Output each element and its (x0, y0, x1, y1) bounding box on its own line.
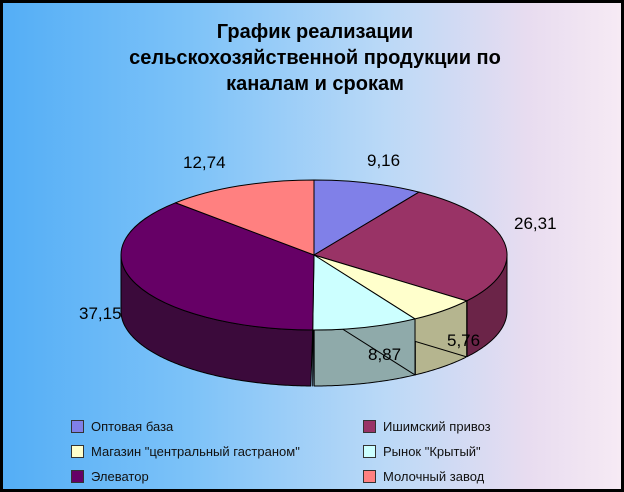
legend-label-1: Ишимский привоз (383, 419, 491, 434)
legend-item-molochnyy-zavod[interactable]: Молочный завод (363, 467, 484, 485)
slice-value-label-elevator: 37,15 (79, 304, 122, 324)
slice-value-label-magazin: 5,76 (447, 331, 480, 351)
slice-value-label-molochnyy-zavod: 12,74 (183, 153, 226, 173)
pie-top-faces (121, 180, 507, 330)
legend-swatch-icon-3 (363, 445, 376, 458)
legend-label-5: Молочный завод (383, 469, 484, 484)
slice-value-label-optovaya-baza: 9,16 (367, 151, 400, 171)
legend-label-2: Магазин "центральный гастраном" (91, 444, 300, 459)
pie-chart: 9,16 26,31 5,76 8,87 37,15 12,74 (3, 133, 621, 393)
slice-value-label-ishimskiy-privoz: 26,31 (514, 214, 557, 234)
legend-swatch-icon-1 (363, 420, 376, 433)
legend-item-rynok-krytyy[interactable]: Рынок "Крытый" (363, 442, 481, 460)
legend-label-4: Элеватор (91, 469, 149, 484)
legend-swatch-icon-2 (71, 445, 84, 458)
chart-title: График реализации сельскохозяйственной п… (63, 19, 567, 97)
legend-swatch-icon-4 (71, 470, 84, 483)
legend-item-magazin[interactable]: Магазин "центральный гастраном" (71, 442, 300, 460)
legend-swatch-icon-5 (363, 470, 376, 483)
legend-item-elevator[interactable]: Элеватор (71, 467, 149, 485)
legend-item-ishimskiy-privoz[interactable]: Ишимский привоз (363, 417, 491, 435)
slice-value-label-rynok-krytyy: 8,87 (368, 345, 401, 365)
legend-item-optovaya-baza[interactable]: Оптовая база (71, 417, 173, 435)
legend-label-0: Оптовая база (91, 419, 173, 434)
legend-swatch-icon-0 (71, 420, 84, 433)
chart-frame: График реализации сельскохозяйственной п… (0, 0, 624, 492)
chart-legend: Оптовая база Магазин "центральный гастра… (3, 409, 621, 489)
legend-label-3: Рынок "Крытый" (383, 444, 481, 459)
pie-chart-svg (3, 133, 621, 393)
